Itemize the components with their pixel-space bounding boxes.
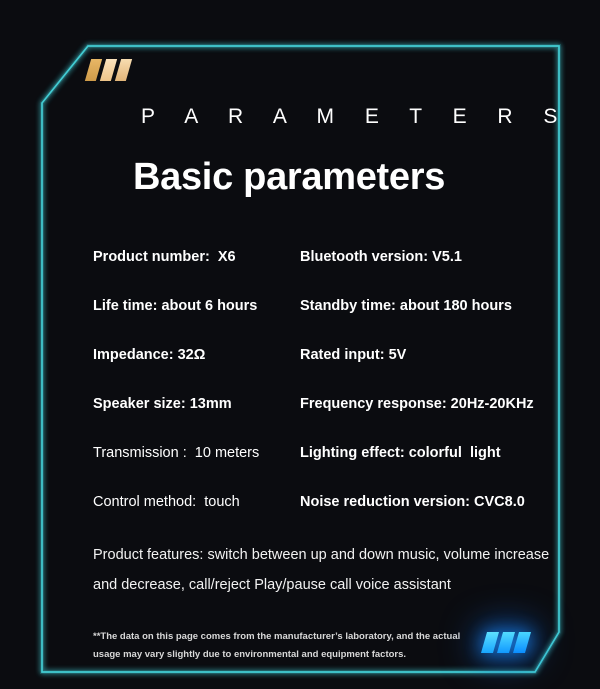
- section-eyebrow: P A R A M E T E R S: [141, 105, 570, 129]
- spec-cell-left: Transmission : 10 meters: [93, 446, 300, 462]
- spec-cell-left: Impedance: 32Ω: [93, 348, 300, 364]
- spec-cell-right: Lighting effect: colorful light: [300, 446, 563, 462]
- spec-cell-right: Noise reduction version: CVC8.0: [300, 495, 563, 511]
- table-row: Speaker size: 13mm Frequency response: 2…: [93, 397, 563, 446]
- spec-cell-right: Standby time: about 180 hours: [300, 299, 563, 315]
- slash-bar: [513, 632, 531, 653]
- spec-cell-left: Life time: about 6 hours: [93, 299, 300, 315]
- table-row: Impedance: 32Ω Rated input: 5V: [93, 348, 563, 397]
- slash-bar: [497, 632, 515, 653]
- product-features-text: Product features: switch between up and …: [93, 540, 553, 600]
- spec-table: Product number: X6 Bluetooth version: V5…: [93, 250, 563, 544]
- spec-cell-left: Product number: X6: [93, 250, 300, 266]
- spec-cell-right: Bluetooth version: V5.1: [300, 250, 563, 266]
- table-row: Product number: X6 Bluetooth version: V5…: [93, 250, 563, 299]
- slash-bar: [115, 59, 132, 81]
- page-title: Basic parameters: [133, 156, 445, 199]
- spec-cell-right: Rated input: 5V: [300, 348, 563, 364]
- disclaimer-text: **The data on this page comes from the m…: [93, 628, 483, 664]
- slash-bar: [481, 632, 499, 653]
- spec-cell-left: Speaker size: 13mm: [93, 397, 300, 413]
- spec-cell-left: Control method: touch: [93, 495, 300, 511]
- table-row: Life time: about 6 hours Standby time: a…: [93, 299, 563, 348]
- table-row: Transmission : 10 meters Lighting effect…: [93, 446, 563, 495]
- triple-slash-gold-icon: [88, 59, 129, 81]
- spec-cell-right: Frequency response: 20Hz-20KHz: [300, 397, 563, 413]
- parameters-panel: P A R A M E T E R S Basic parameters Pro…: [0, 0, 600, 689]
- table-row: Control method: touch Noise reduction ve…: [93, 495, 563, 544]
- triple-slash-blue-icon: [484, 632, 528, 653]
